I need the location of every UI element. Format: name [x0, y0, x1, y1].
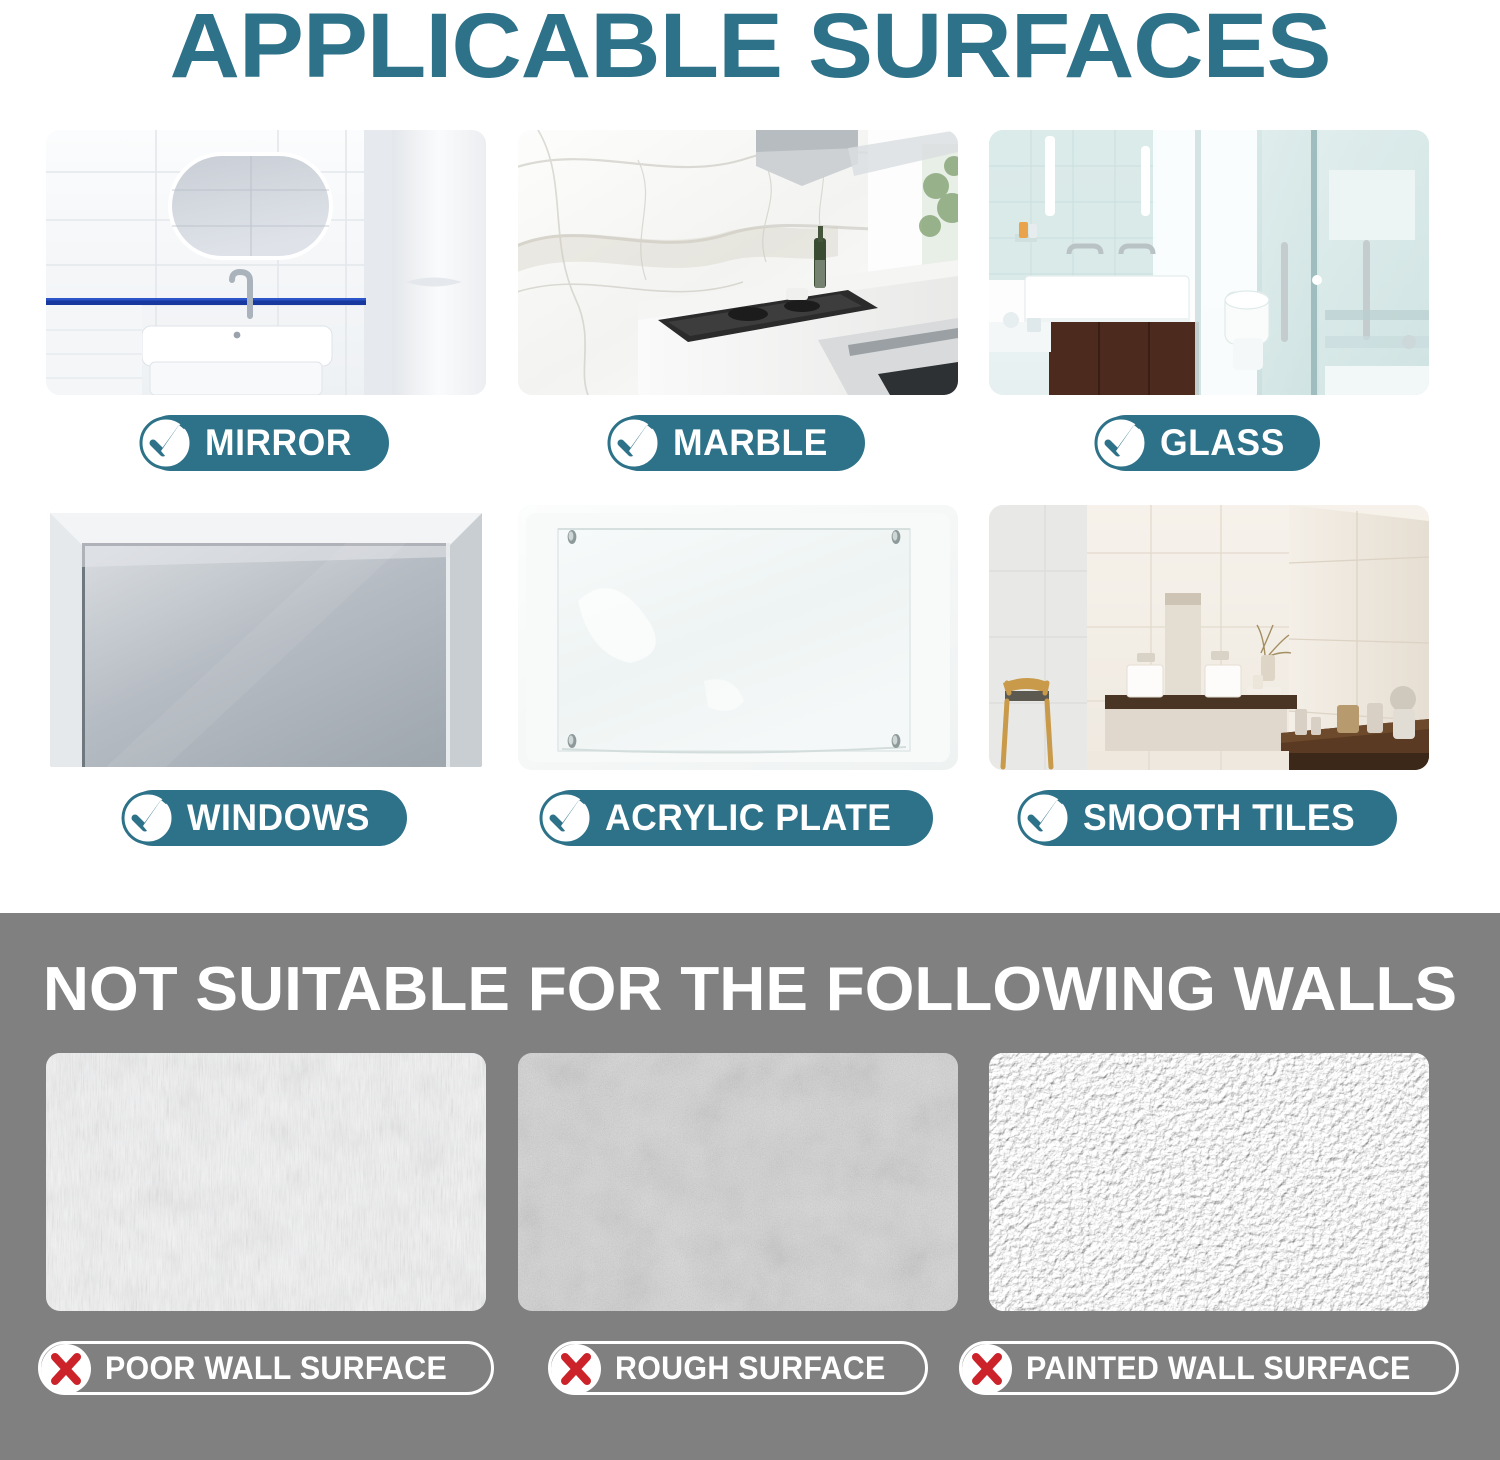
- not-suitable-panel: NOT SUITABLE FOR THE FOLLOWING WALLS: [0, 913, 1500, 1460]
- check-circle-icon: [535, 785, 601, 851]
- cross-circle-icon: [545, 1338, 607, 1400]
- unsuitable-pill-label: POOR WALL SURFACE: [105, 1350, 447, 1386]
- surface-pill-label: SMOOTH TILES: [1083, 798, 1355, 838]
- check-circle-icon: [603, 410, 669, 476]
- thumbnail-rough-surface: [518, 1053, 958, 1311]
- page-title: APPLICABLE SURFACES: [0, 0, 1500, 96]
- dark-speckled-concrete-texture-icon: [518, 1053, 958, 1311]
- check-circle-icon: [1013, 785, 1079, 851]
- unsuitable-pill-label: ROUGH SURFACE: [615, 1350, 886, 1386]
- unsuitable-card-poor-wall[interactable]: POOR WALL SURFACE: [46, 1053, 486, 1395]
- pill-wrap-painted-wall: PAINTED WALL SURFACE: [989, 1341, 1429, 1395]
- unsuitable-card-rough-surface[interactable]: ROUGH SURFACE: [518, 1053, 958, 1395]
- check-circle-icon: [135, 410, 201, 476]
- surface-pill-label: WINDOWS: [187, 798, 370, 838]
- window-frame-scene-icon: [46, 505, 486, 770]
- pill-wrap-mirror: MIRROR: [46, 415, 486, 471]
- unsuitable-card-painted-wall[interactable]: PAINTED WALL SURFACE: [989, 1053, 1429, 1395]
- glass-shower-scene-icon: [989, 130, 1429, 395]
- surface-card-smooth-tiles[interactable]: SMOOTH TILES: [989, 505, 1429, 846]
- surface-card-acrylic-plate[interactable]: ACRYLIC PLATE: [518, 505, 958, 846]
- surface-pill-label: ACRYLIC PLATE: [605, 798, 891, 838]
- surface-pill-label: GLASS: [1160, 423, 1285, 463]
- acrylic-panel-scene-icon: [518, 505, 958, 770]
- applicable-surfaces-infographic: APPLICABLE SURFACES: [0, 0, 1500, 1460]
- surface-card-glass[interactable]: GLASS: [989, 130, 1429, 471]
- unsuitable-pill-rough-surface[interactable]: ROUGH SURFACE: [548, 1341, 929, 1395]
- beige-tiled-bathroom-scene-icon: [989, 505, 1429, 770]
- surface-card-marble[interactable]: MARBLE: [518, 130, 958, 471]
- pill-wrap-rough-surface: ROUGH SURFACE: [518, 1341, 958, 1395]
- cross-circle-icon: [35, 1338, 97, 1400]
- light-concrete-texture-icon: [46, 1053, 486, 1311]
- check-circle-icon: [117, 785, 183, 851]
- thumbnail-marble: [518, 130, 958, 395]
- thumbnail-smooth-tiles: [989, 505, 1429, 770]
- applicable-row-1: MIRROR: [0, 130, 1500, 505]
- not-suitable-row: POOR WALL SURFACE: [0, 1053, 1500, 1393]
- pill-wrap-smooth-tiles: SMOOTH TILES: [989, 790, 1429, 846]
- pill-wrap-windows: WINDOWS: [46, 790, 486, 846]
- pill-wrap-acrylic-plate: ACRYLIC PLATE: [518, 790, 958, 846]
- thumbnail-windows: [46, 505, 486, 770]
- not-suitable-title: NOT SUITABLE FOR THE FOLLOWING WALLS: [0, 955, 1500, 1025]
- surface-card-windows[interactable]: WINDOWS: [46, 505, 486, 846]
- surface-pill-windows[interactable]: WINDOWS: [125, 790, 408, 846]
- thumbnail-poor-wall: [46, 1053, 486, 1311]
- surface-pill-marble[interactable]: MARBLE: [611, 415, 864, 471]
- unsuitable-pill-label: PAINTED WALL SURFACE: [1026, 1350, 1411, 1386]
- thumbnail-mirror: [46, 130, 486, 395]
- white-stucco-texture-icon: [989, 1053, 1429, 1311]
- thumbnail-painted-wall: [989, 1053, 1429, 1311]
- thumbnail-acrylic-plate: [518, 505, 958, 770]
- bathroom-mirror-scene-icon: [46, 130, 486, 395]
- surface-card-mirror[interactable]: MIRROR: [46, 130, 486, 471]
- unsuitable-pill-painted-wall[interactable]: PAINTED WALL SURFACE: [959, 1341, 1460, 1395]
- pill-wrap-marble: MARBLE: [518, 415, 958, 471]
- surface-pill-label: MIRROR: [205, 423, 352, 463]
- thumbnail-glass: [989, 130, 1429, 395]
- pill-wrap-poor-wall: POOR WALL SURFACE: [46, 1341, 486, 1395]
- applicable-row-2: WINDOWS: [0, 505, 1500, 880]
- surface-pill-smooth-tiles[interactable]: SMOOTH TILES: [1021, 790, 1397, 846]
- surface-pill-acrylic-plate[interactable]: ACRYLIC PLATE: [543, 790, 933, 846]
- surface-pill-mirror[interactable]: MIRROR: [143, 415, 388, 471]
- pill-wrap-glass: GLASS: [989, 415, 1429, 471]
- check-circle-icon: [1090, 410, 1156, 476]
- surface-pill-glass[interactable]: GLASS: [1098, 415, 1320, 471]
- cross-circle-icon: [956, 1338, 1018, 1400]
- applicable-surfaces-grid: MIRROR: [0, 130, 1500, 880]
- unsuitable-pill-poor-wall[interactable]: POOR WALL SURFACE: [38, 1341, 494, 1395]
- surface-pill-label: MARBLE: [673, 423, 828, 463]
- marble-kitchen-scene-icon: [518, 130, 958, 395]
- not-suitable-grid: POOR WALL SURFACE: [0, 1053, 1500, 1393]
